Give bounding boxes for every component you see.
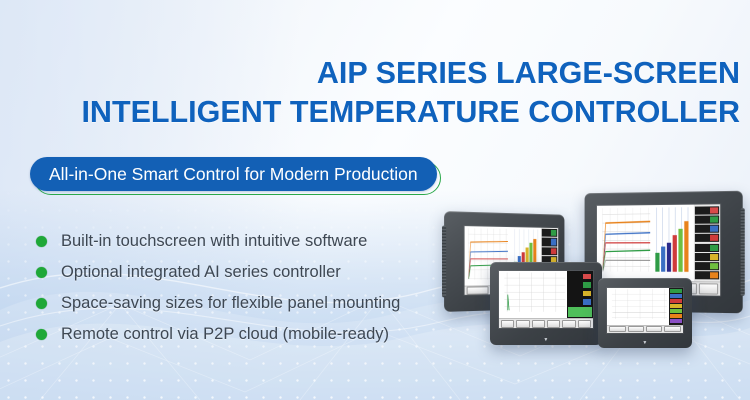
bar-chart	[652, 205, 694, 281]
feature-label: Built-in touchscreen with intuitive soft…	[61, 232, 367, 251]
bullet-dot-icon	[36, 236, 47, 247]
bullet-dot-icon	[36, 298, 47, 309]
function-button[interactable]	[699, 284, 718, 295]
list-item: Built-in touchscreen with intuitive soft…	[36, 228, 400, 254]
title-line-1: AIP SERIES LARGE-SCREEN	[0, 58, 740, 89]
readout-item	[542, 229, 557, 237]
list-item: Space-saving sizes for flexible panel mo…	[36, 290, 400, 316]
function-button[interactable]	[532, 320, 545, 328]
feature-label: Space-saving sizes for flexible panel mo…	[61, 294, 400, 313]
readout-item	[542, 247, 557, 255]
readout-item	[568, 273, 592, 281]
feature-label: Optional integrated AI series controller	[61, 263, 341, 282]
hmi-panel-front-center: ▼	[490, 262, 602, 345]
feature-list: Built-in touchscreen with intuitive soft…	[36, 228, 400, 352]
legend-swatch	[670, 294, 682, 298]
function-button-bar[interactable]	[607, 325, 682, 333]
readout-item	[695, 253, 719, 261]
bullet-dot-icon	[36, 329, 47, 340]
readout-item	[568, 290, 592, 298]
readout-item	[695, 234, 719, 242]
readout-item	[695, 206, 719, 214]
readout-item	[542, 238, 557, 246]
function-button[interactable]	[578, 320, 591, 328]
readout-item	[695, 243, 719, 251]
function-button[interactable]	[646, 326, 662, 332]
legend-swatch	[670, 309, 682, 313]
readout-item	[695, 271, 719, 279]
readout-item	[568, 281, 592, 289]
readout-item	[695, 225, 719, 233]
legend-swatch	[670, 304, 682, 308]
digital-readout-stack	[694, 204, 720, 281]
bullet-dot-icon	[36, 267, 47, 278]
list-item: Remote control via P2P cloud (mobile-rea…	[36, 321, 400, 347]
tagline-badge-wrapper: All-in-One Smart Control for Modern Prod…	[30, 157, 437, 195]
screen-charts-row	[607, 288, 682, 325]
legend-swatch	[670, 299, 682, 303]
readout-item-status	[568, 307, 592, 317]
readout-item	[695, 215, 719, 223]
screen-charts-row	[597, 204, 720, 281]
function-button[interactable]	[467, 287, 489, 295]
function-button-bar[interactable]	[499, 318, 593, 328]
legend-swatch	[670, 319, 682, 323]
function-button[interactable]	[516, 320, 529, 328]
color-legend-strip	[669, 288, 683, 325]
banner-title: AIP SERIES LARGE-SCREEN INTELLIGENT TEMP…	[0, 58, 740, 127]
panel-screen	[607, 288, 682, 333]
panel-screen	[499, 271, 593, 328]
panel-side-vent	[442, 225, 446, 298]
function-button[interactable]	[609, 326, 625, 332]
hmi-panel-small: ▼	[598, 278, 692, 348]
feature-label: Remote control via P2P cloud (mobile-rea…	[61, 325, 389, 344]
product-image-group: ▼	[430, 190, 750, 365]
legend-swatch	[670, 289, 682, 293]
brand-logo: ▼	[490, 337, 602, 343]
trend-chart	[597, 205, 652, 280]
function-button[interactable]	[547, 320, 560, 328]
function-button[interactable]	[501, 320, 514, 328]
panel-side-vent	[741, 208, 745, 296]
promo-banner: AIP SERIES LARGE-SCREEN INTELLIGENT TEMP…	[0, 0, 750, 400]
tagline-badge: All-in-One Smart Control for Modern Prod…	[30, 157, 437, 191]
function-button[interactable]	[562, 320, 575, 328]
legend-swatch	[670, 314, 682, 318]
list-item: Optional integrated AI series controller	[36, 259, 400, 285]
brand-logo: ▼	[598, 340, 692, 346]
title-line-2: INTELLIGENT TEMPERATURE CONTROLLER	[0, 97, 740, 128]
function-button[interactable]	[664, 326, 680, 332]
screen-charts-row	[499, 271, 593, 318]
trend-chart	[499, 271, 567, 318]
trend-chart	[607, 288, 668, 325]
digital-readout-stack	[567, 271, 593, 318]
readout-item	[568, 298, 592, 306]
readout-item	[695, 262, 719, 270]
function-button[interactable]	[628, 326, 644, 332]
